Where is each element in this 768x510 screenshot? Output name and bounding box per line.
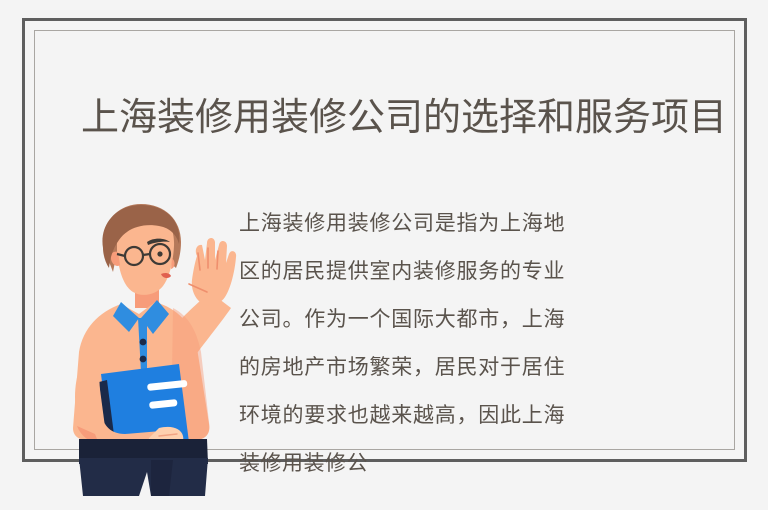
page-title: 上海装修用装修公司的选择和服务项目 (81, 94, 727, 142)
waving-man-with-book-illustration (55, 196, 240, 496)
article-body-text: 上海装修用装修公司是指为上海地区的居民提供室内装修服务的专业公司。作为一个国际大… (239, 200, 565, 488)
article-card-inner-border: 上海装修用装修公司的选择和服务项目 (34, 30, 735, 450)
article-card: 上海装修用装修公司的选择和服务项目 (22, 18, 747, 462)
